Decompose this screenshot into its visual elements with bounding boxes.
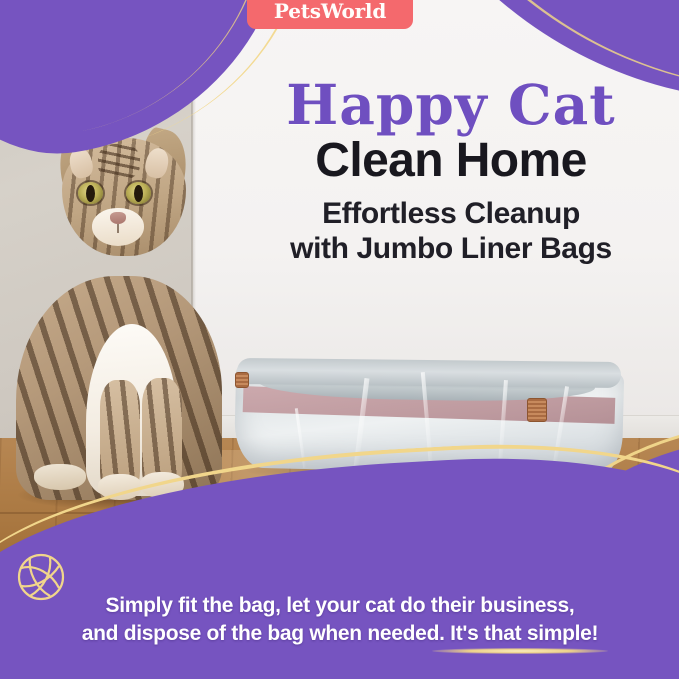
- headline-subtext-line-1: Effortless Cleanup: [232, 197, 670, 232]
- headline-main-line: Clean Home: [232, 135, 670, 187]
- litter-box-handle-right: [527, 398, 547, 422]
- cat-mouth: [117, 224, 119, 233]
- caption-line-1: Simply fit the bag, let your cat do thei…: [40, 592, 640, 620]
- cat-pupil-right: [134, 185, 143, 202]
- caption-gold-underline: [432, 648, 608, 654]
- headline-subtext-line-2: with Jumbo Liner Bags: [232, 232, 670, 267]
- headline-accent-line: Happy Cat: [232, 76, 670, 133]
- liner-bag-top-rim: [237, 358, 621, 388]
- cat-forehead-markings: [98, 144, 140, 180]
- headline-block: Happy Cat Clean Home Effortless Cleanup …: [232, 76, 670, 267]
- litter-box-handle-left: [235, 372, 249, 388]
- cat-side-paw: [34, 464, 86, 490]
- headline-subtext: Effortless Cleanup with Jumbo Liner Bags: [232, 197, 670, 267]
- bottom-caption: Simply fit the bag, let your cat do thei…: [40, 592, 640, 648]
- brand-logo-badge: PetsWorld: [247, 0, 413, 29]
- cat-nose: [110, 212, 126, 224]
- product-advertisement-image: PetsWorld Happy Cat Clean Home Effortles…: [0, 0, 679, 679]
- cat-pupil-left: [86, 185, 95, 202]
- caption-line-2: and dispose of the bag when needed. It's…: [40, 620, 640, 648]
- avatar-cat-photo: [14, 128, 236, 500]
